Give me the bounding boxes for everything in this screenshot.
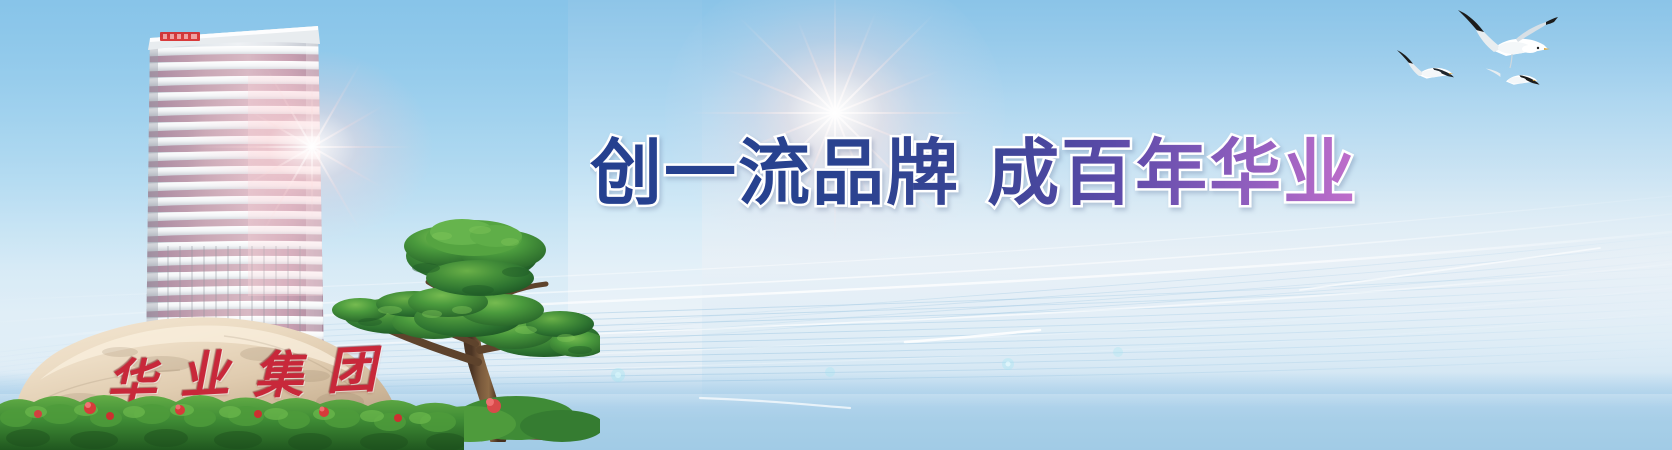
- rooftop-sign-icon: [160, 32, 200, 41]
- flowering-hedge: [0, 384, 464, 450]
- svg-text:创一流品牌 成百年华业: 创一流品牌 成百年华业: [590, 131, 1357, 215]
- slogan-text-graphic: 创一流品牌 成百年华业: [590, 128, 1360, 220]
- seagull-icon-small-left: [1397, 50, 1454, 79]
- seagull-icon-small-right: [1486, 69, 1540, 85]
- corporate-banner: 华 业 集 团: [0, 0, 1672, 450]
- seagull-icon-large: [1458, 10, 1558, 68]
- seagull-flock: [1396, 6, 1576, 116]
- banner-slogan: 创一流品牌 成百年华业: [590, 128, 1360, 220]
